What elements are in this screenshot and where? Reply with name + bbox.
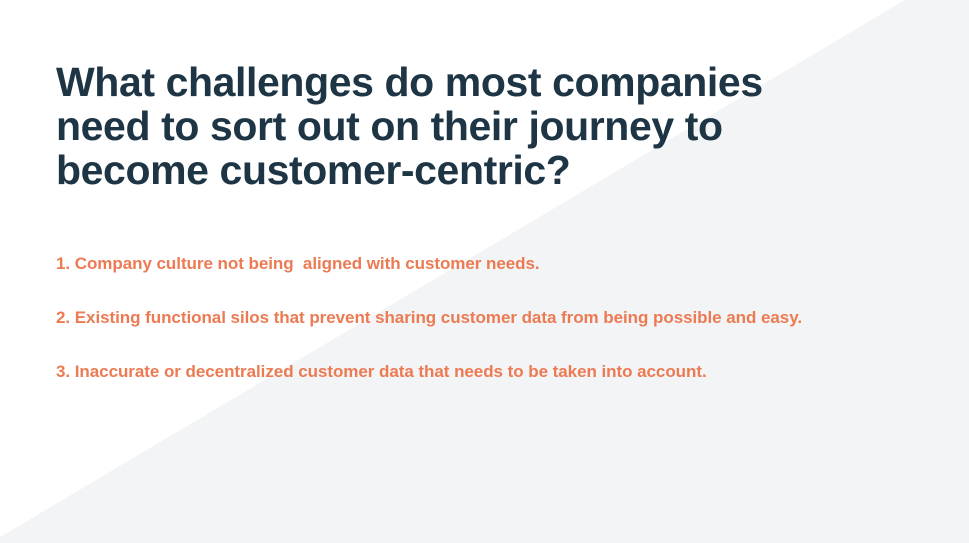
list-item: 3. Inaccurate or decentralized customer … (56, 357, 886, 387)
challenges-list: 1. Company culture not being aligned wit… (56, 249, 886, 387)
list-item: 1. Company culture not being aligned wit… (56, 249, 886, 279)
slide-heading: What challenges do most companies need t… (56, 60, 856, 192)
slide-canvas: What challenges do most companies need t… (0, 0, 969, 543)
list-item: 2. Existing functional silos that preven… (56, 303, 886, 333)
